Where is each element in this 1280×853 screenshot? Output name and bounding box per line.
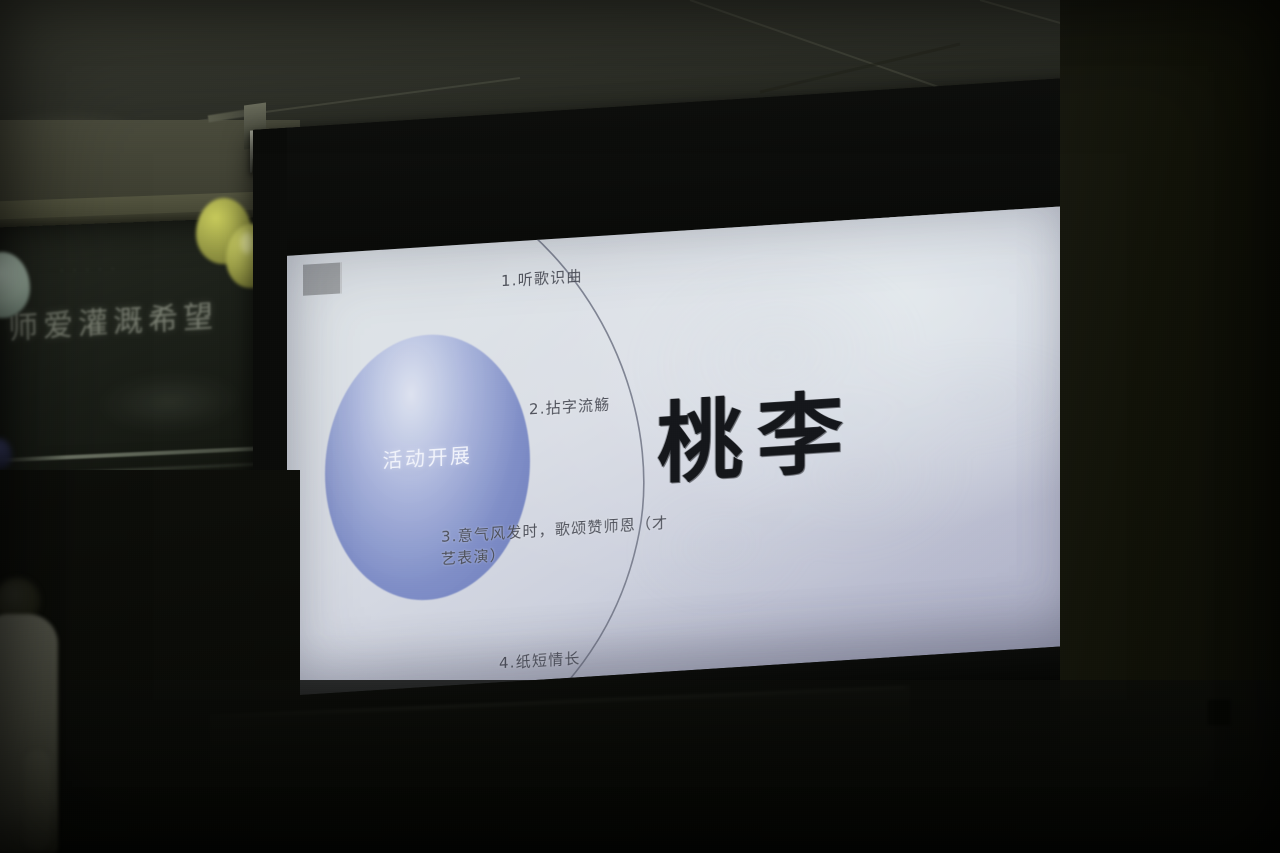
person-arm (24, 750, 50, 850)
blackboard-chalk-smudge (100, 369, 240, 434)
foreground-dark-area (0, 680, 1280, 853)
projection-screen[interactable]: 活动开展 1.听歌识曲 2.拈字流觞 3.意气风发时，歌颂赞师恩（才艺表演） 4… (253, 77, 1085, 730)
slide-vignette (287, 205, 1077, 695)
classroom-photo-scene: · · · · · 师爱灌溉希望 (0, 0, 1280, 853)
person-silhouette-left (0, 600, 68, 853)
wall-socket (1208, 700, 1230, 725)
projected-slide: 活动开展 1.听歌识曲 2.拈字流觞 3.意气风发时，歌颂赞师恩（才艺表演） 4… (287, 205, 1077, 695)
